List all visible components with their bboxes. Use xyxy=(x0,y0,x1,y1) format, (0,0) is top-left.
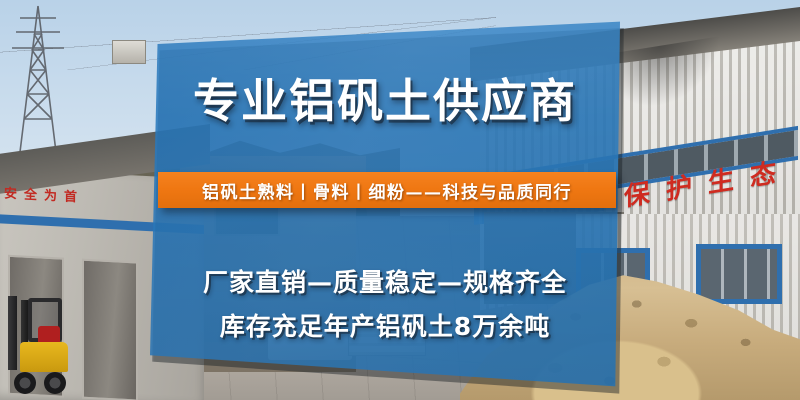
subline-1: 厂家直销—质量稳定—规格齐全 xyxy=(150,263,620,299)
blue-framed-window xyxy=(696,244,782,304)
yellow-forklift xyxy=(4,296,68,396)
air-conditioner-unit xyxy=(112,40,146,64)
tagline-text: 铝矾土熟料丨骨料丨细粉——科技与品质同行 xyxy=(202,178,572,203)
subline-2: 库存充足年产铝矾土8万余吨 xyxy=(150,307,620,343)
forklift-body xyxy=(20,342,68,372)
tagline-bar: 铝矾土熟料丨骨料丨细粉——科技与品质同行 xyxy=(158,172,616,208)
page-title: 专业铝矾土供应商 xyxy=(150,78,620,124)
forklift-wheel xyxy=(44,372,66,394)
banner-text-content: 专业铝矾土供应商 铝矾土熟料丨骨料丨细粉——科技与品质同行 厂家直销—质量稳定—… xyxy=(150,0,620,400)
forklift-wheel xyxy=(14,372,36,394)
warehouse-roller-door xyxy=(82,259,138,400)
forklift-mast xyxy=(8,296,17,370)
banner-image: 保护生态 安全为首 xyxy=(0,0,800,400)
power-transmission-pylon-icon xyxy=(10,4,66,154)
